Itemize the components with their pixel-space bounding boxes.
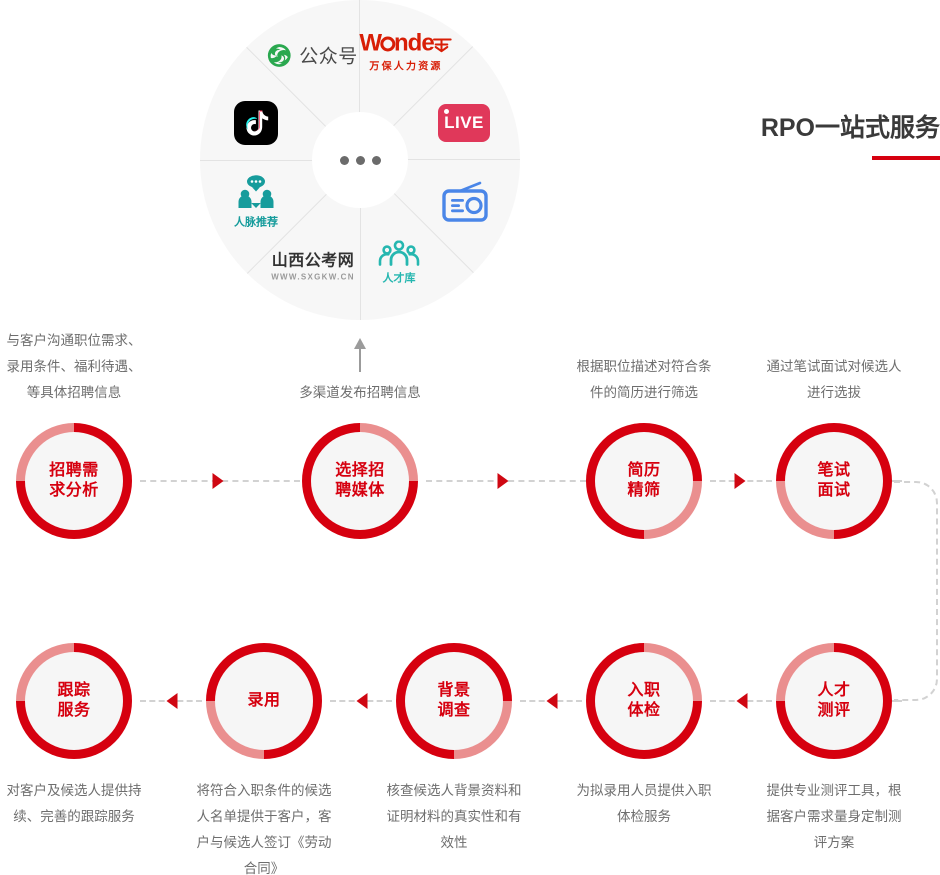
arrow-5-6 — [737, 693, 748, 709]
node-label: 简历 精筛 — [627, 461, 660, 501]
wheel-item-label: 山西公考网 — [271, 247, 355, 271]
arrow-7-8 — [357, 693, 368, 709]
node-written-interview[interactable]: 笔试 面试 — [776, 423, 892, 539]
node-inner: 背景 调查 — [405, 652, 503, 750]
node-resume-screening[interactable]: 简历 精筛 — [586, 423, 702, 539]
wonder-logo-icon: Wnde — [359, 32, 452, 56]
arrow-3-4 — [735, 473, 746, 489]
caption-follow-up-service: 对客户及候选人提供持 续、完善的跟踪服务 — [0, 778, 174, 830]
title-accent-rule — [872, 156, 940, 160]
tiktok-icon — [243, 109, 269, 137]
caption-select-media: 多渠道发布招聘信息 — [250, 380, 470, 406]
ellipsis-dots-icon — [340, 156, 349, 165]
ellipsis-dots-icon — [372, 156, 381, 165]
node-label: 录用 — [247, 691, 280, 711]
wheel-item-wechat-official-account[interactable]: 公众号 — [266, 42, 358, 69]
wheel-item-label: 人脉推荐 — [234, 214, 278, 230]
page-title: RPO一站式服务 — [761, 108, 940, 144]
channel-wheel: 公众号 Wnde 万保人力资源 — [200, 0, 520, 320]
wheel-item-sublabel: WWW.SXGKW.CN — [271, 273, 355, 282]
arrow-8-9 — [167, 693, 178, 709]
node-label: 选择招 聘媒体 — [335, 461, 385, 501]
connector-4-5-wrap — [894, 481, 938, 701]
live-badge-icon: LIVE — [438, 104, 490, 142]
node-label: 招聘需 求分析 — [49, 461, 99, 501]
wheel-item-live-stream[interactable]: LIVE — [438, 104, 490, 142]
wheel-hub — [312, 112, 408, 208]
node-inner: 录用 — [215, 652, 313, 750]
ellipsis-dots-icon — [356, 156, 365, 165]
node-follow-up-service[interactable]: 跟踪 服务 — [16, 643, 132, 759]
node-label: 入职 体检 — [627, 681, 660, 721]
caption-written-interview: 通过笔试面试对候选人 进行选拔 — [739, 354, 929, 406]
caption-demand-analysis: 与客户沟通职位需求、 录用条件、福利待遇、 等具体招聘信息 — [0, 328, 174, 406]
wheel-item-talent-pool[interactable]: 人才库 — [378, 241, 420, 286]
node-inner: 笔试 面试 — [785, 432, 883, 530]
arrow-2-3 — [498, 473, 509, 489]
caption-onboarding-physical: 为拟录用人员提供入职 体检服务 — [549, 778, 739, 830]
rpo-process-infographic: 公众号 Wnde 万保人力资源 — [0, 0, 940, 875]
node-inner: 跟踪 服务 — [25, 652, 123, 750]
node-talent-assessment[interactable]: 人才 测评 — [776, 643, 892, 759]
node-hiring[interactable]: 录用 — [206, 643, 322, 759]
wechat-official-account-icon — [266, 42, 292, 68]
wheel-item-sxgkw[interactable]: 山西公考网 WWW.SXGKW.CN — [271, 247, 355, 282]
wheel-item-label: LIVE — [444, 113, 484, 133]
caption-background-check: 核查候选人背景资料和 证明材料的真实性和有 效性 — [359, 778, 549, 856]
node-select-media[interactable]: 选择招 聘媒体 — [302, 423, 418, 539]
wheel-item-sublabel: 万保人力资源 — [359, 58, 452, 73]
page-title-block: RPO一站式服务 — [761, 108, 940, 160]
arrow-1-2 — [213, 473, 224, 489]
node-inner: 入职 体检 — [595, 652, 693, 750]
radio-icon — [440, 181, 490, 225]
sxgkw-logo-icon: 山西公考网 WWW.SXGKW.CN — [271, 247, 355, 282]
connector-4-5-bottom-stub — [892, 700, 902, 702]
node-inner: 选择招 聘媒体 — [311, 432, 409, 530]
connector-4-5-top-stub — [892, 480, 902, 482]
caption-talent-assessment: 提供专业测评工具，根 据客户需求量身定制测 评方案 — [739, 778, 929, 856]
wheel-item-label: 公众号 — [299, 42, 358, 69]
people-chat-icon — [235, 175, 277, 213]
node-label: 人才 测评 — [817, 681, 850, 721]
wheel-item-label: 人才库 — [383, 270, 416, 286]
caption-resume-screening: 根据职位描述对符合条 件的简历进行筛选 — [549, 354, 739, 406]
arrow-6-7 — [547, 693, 558, 709]
up-arrow-icon — [352, 338, 368, 372]
node-inner: 简历 精筛 — [595, 432, 693, 530]
node-inner: 招聘需 求分析 — [25, 432, 123, 530]
node-inner: 人才 测评 — [785, 652, 883, 750]
node-label: 背景 调查 — [437, 681, 470, 721]
wheel-item-wonder-hr[interactable]: Wnde 万保人力资源 — [359, 32, 452, 73]
wheel-item-douyin[interactable] — [234, 101, 278, 145]
wheel-item-referral[interactable]: 人脉推荐 — [234, 175, 278, 230]
wheel-item-radio[interactable] — [440, 181, 490, 225]
node-demand-analysis[interactable]: 招聘需 求分析 — [16, 423, 132, 539]
node-label: 笔试 面试 — [817, 461, 850, 501]
node-label: 跟踪 服务 — [57, 681, 90, 721]
node-onboarding-physical[interactable]: 入职 体检 — [586, 643, 702, 759]
node-background-check[interactable]: 背景 调查 — [396, 643, 512, 759]
talent-group-icon — [378, 241, 420, 269]
caption-hiring: 将符合入职条件的候选 人名单提供于客户，客 户与候选人签订《劳动 合同》 — [169, 778, 359, 875]
